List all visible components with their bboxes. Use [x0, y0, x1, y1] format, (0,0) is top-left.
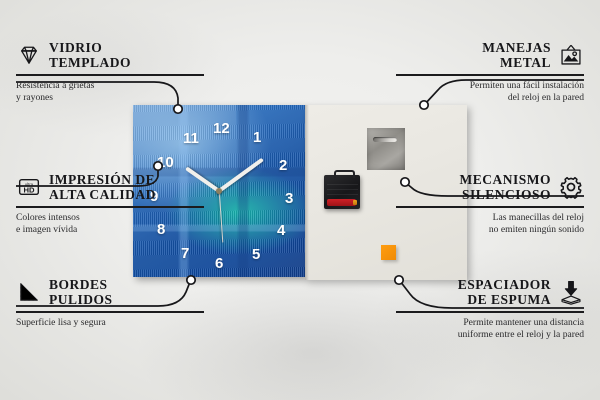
feature-mecanismo-silencioso[interactable]: MECANISMO SILENCIOSO Las manecillas del …	[396, 172, 584, 236]
feature-rule	[396, 206, 584, 208]
feature-rule	[16, 74, 204, 76]
clock-number-11: 11	[183, 131, 199, 146]
feature-vidrio-templado[interactable]: VIDRIO TEMPLADO Resistencia a grietas y …	[16, 40, 204, 104]
polished-edge-icon	[16, 279, 42, 305]
feature-description: Las manecillas del reloj no emiten ningú…	[396, 212, 584, 237]
clock-number-10: 10	[157, 155, 174, 170]
feature-header: ultra HD IMPRESIÓN DE ALTA CALIDAD	[16, 172, 204, 202]
feature-header: MANEJAS METAL	[396, 40, 584, 70]
clock-number-5: 5	[252, 247, 260, 262]
feature-description: Superficie lisa y segura	[16, 317, 204, 329]
infographic-canvas: 12 1 2 3 4 5 6 7 8 9 10 11	[0, 0, 600, 400]
feature-header: ESPACIADOR DE ESPUMA	[396, 277, 584, 307]
feature-rule	[16, 206, 204, 208]
clock-number-12: 12	[213, 121, 230, 136]
arrow-down-pad-icon	[558, 279, 584, 305]
picture-frame-hook-icon	[558, 42, 584, 68]
diamond-icon	[16, 42, 42, 68]
battery	[327, 199, 357, 206]
clock-center-pin	[216, 188, 222, 194]
mechanism-hook-tab	[334, 170, 355, 177]
gear-icon	[558, 174, 584, 200]
feature-header: MECANISMO SILENCIOSO	[396, 172, 584, 202]
feature-title: MECANISMO SILENCIOSO	[460, 172, 552, 202]
feature-rule	[396, 311, 584, 313]
mechanism-texture	[327, 180, 357, 195]
ultra-hd-icon: ultra HD	[16, 174, 42, 200]
clock-number-2: 2	[279, 158, 287, 173]
metal-hanger-plate	[367, 128, 405, 170]
feature-title: MANEJAS METAL	[482, 40, 551, 70]
feature-title: IMPRESIÓN DE ALTA CALIDAD	[49, 172, 156, 202]
feature-rule	[396, 74, 584, 76]
feature-impresion-alta-calidad[interactable]: ultra HD IMPRESIÓN DE ALTA CALIDAD Color…	[16, 172, 204, 236]
feature-description: Colores intensos e imagen vívida	[16, 212, 204, 237]
clock-mechanism	[324, 175, 360, 209]
feature-header: VIDRIO TEMPLADO	[16, 40, 204, 70]
feature-manejas-metal[interactable]: MANEJAS METAL Permiten una fácil instala…	[396, 40, 584, 104]
hanger-keyhole-slot	[373, 137, 397, 142]
svg-text:HD: HD	[23, 185, 35, 194]
feature-rule	[16, 311, 204, 313]
feature-bordes-pulidos[interactable]: BORDES PULIDOS Superficie lisa y segura	[16, 277, 204, 329]
feature-header: BORDES PULIDOS	[16, 277, 204, 307]
feature-description: Resistencia a grietas y rayones	[16, 80, 204, 105]
feature-title: BORDES PULIDOS	[49, 277, 113, 307]
feature-espaciador-espuma[interactable]: ESPACIADOR DE ESPUMA Permite mantener un…	[396, 277, 584, 341]
feature-description: Permite mantener una distancia uniforme …	[396, 317, 584, 342]
feature-description: Permiten una fácil instalación del reloj…	[396, 80, 584, 105]
foam-spacer	[381, 245, 396, 260]
feature-title: VIDRIO TEMPLADO	[49, 40, 131, 70]
clock-number-6: 6	[215, 256, 223, 271]
clock-number-1: 1	[253, 130, 261, 145]
clock-number-7: 7	[181, 246, 189, 261]
clock-number-3: 3	[285, 191, 293, 206]
feature-title: ESPACIADOR DE ESPUMA	[458, 277, 551, 307]
clock-number-4: 4	[277, 223, 285, 238]
